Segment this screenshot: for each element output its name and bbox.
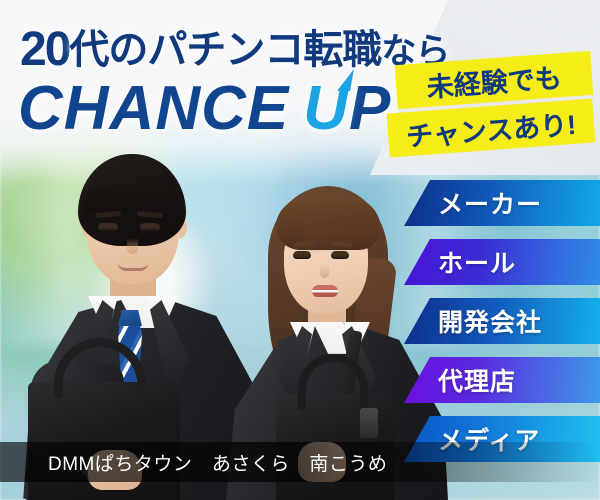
- female-hair-bangs: [276, 194, 380, 250]
- male-eye-right: [140, 223, 160, 231]
- headline-number: 20: [20, 23, 69, 76]
- female-eye-left: [293, 251, 311, 259]
- category-label-agency: 代理店: [438, 362, 516, 398]
- logo-up-group: UP: [303, 73, 391, 144]
- male-hair: [78, 154, 186, 246]
- category-label-maker: メーカー: [438, 185, 542, 221]
- category-button-agency[interactable]: 代理店: [404, 357, 600, 403]
- male-eye-left: [98, 223, 118, 231]
- headline-mid: 代のパチンコ転職: [69, 28, 381, 72]
- category-button-maker[interactable]: メーカー: [404, 180, 600, 226]
- recruitment-banner[interactable]: 20代のパチンコ転職なら CHANCEUP 未経験でも チャンスあり! メーカー…: [0, 0, 600, 500]
- category-button-hall[interactable]: ホール: [404, 239, 600, 285]
- female-nose: [320, 264, 329, 278]
- logo-chance-text: CHANCE: [18, 74, 289, 143]
- female-mouth: [312, 285, 338, 297]
- male-mouth: [118, 263, 148, 271]
- category-button-list: メーカー ホール 開発会社 代理店 メディア: [404, 180, 600, 475]
- headline-text: 20代のパチンコ転職なら: [20, 17, 449, 77]
- male-nose: [127, 238, 138, 254]
- category-button-developer[interactable]: 開発会社: [404, 298, 600, 344]
- category-label-hall: ホール: [438, 244, 516, 280]
- female-handbag-tag: [360, 408, 378, 438]
- chance-up-logo: CHANCEUP: [18, 73, 391, 144]
- logo-p-letter: P: [349, 74, 391, 143]
- caption-text: DMMぱちタウン あさくら 南こうめ: [0, 449, 387, 476]
- female-eye-right: [331, 251, 349, 259]
- experience-badge: 未経験でも チャンスあり!: [388, 58, 598, 158]
- caption-bar: DMMぱちタウン あさくら 南こうめ: [0, 442, 600, 482]
- logo-u-letter: U: [303, 73, 349, 144]
- male-necktie-knot: [118, 310, 142, 326]
- category-label-developer: 開発会社: [438, 303, 542, 339]
